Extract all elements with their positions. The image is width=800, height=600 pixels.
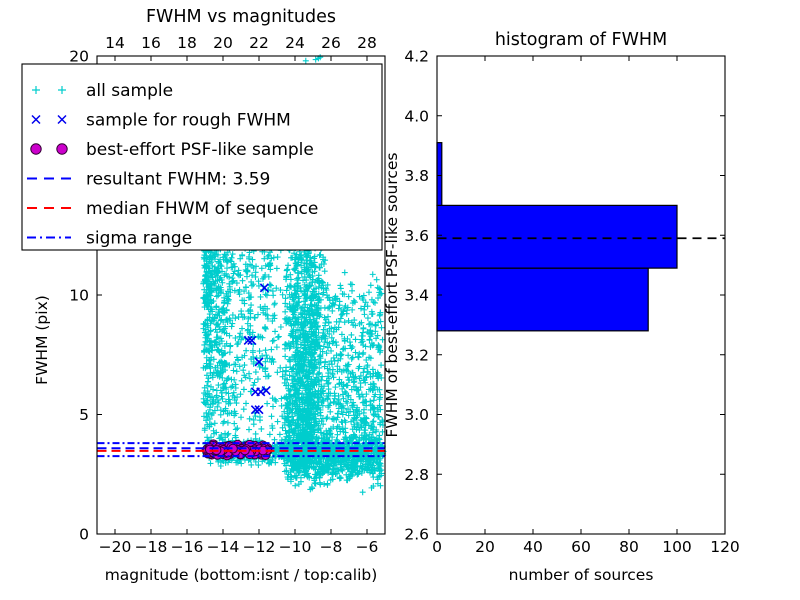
- left-xaxis-label: magnitude (bottom:isnt / top:calib): [105, 566, 378, 584]
- right-yaxis-label: FWHM of best-effort PSF-like sources: [383, 152, 401, 437]
- ytick-label: 3.8: [404, 167, 429, 185]
- ytick-label: 4.0: [404, 107, 429, 125]
- top-xtick-label: 22: [249, 34, 269, 52]
- xtick-label: −6: [356, 538, 379, 556]
- xtick-label: −20: [99, 538, 132, 556]
- top-xtick-label: 20: [213, 34, 233, 52]
- ytick-label: 0: [79, 526, 89, 544]
- legend: all samplesample for rough FWHMbest-effo…: [22, 64, 382, 250]
- ytick-label: 4.2: [404, 48, 429, 66]
- legend-entry-label: sample for rough FWHM: [86, 111, 291, 131]
- histogram-bar: [437, 205, 677, 268]
- legend-circle-icon: [31, 144, 41, 154]
- top-xtick-label: 26: [321, 34, 341, 52]
- top-xtick-label: 16: [141, 34, 161, 52]
- xtick-label: 0: [432, 538, 442, 556]
- right-xaxis-label: number of sources: [509, 566, 654, 584]
- ytick-label: 3.4: [404, 287, 429, 305]
- legend-entry-label: all sample: [86, 81, 173, 101]
- top-xtick-label: 28: [357, 34, 377, 52]
- xtick-label: 80: [619, 538, 639, 556]
- legend-entry-label: sigma range: [86, 229, 192, 249]
- ytick-label: 3.0: [404, 406, 429, 424]
- xtick-label: −14: [207, 538, 240, 556]
- top-xtick-label: 24: [285, 34, 305, 52]
- left-yaxis-label: FWHM (pix): [33, 295, 51, 385]
- figure-canvas: FWHM vs magnitudes −20−18−16−14−12−10−8−…: [0, 0, 800, 600]
- right-histogram-panel: histogram of FWHM 0204060801001202.62.83…: [383, 30, 740, 584]
- legend-entry-label: median FHWM of sequence: [86, 199, 318, 219]
- legend-circle-icon: [57, 144, 67, 154]
- xtick-label: −10: [279, 538, 312, 556]
- matplotlib-figure: FWHM vs magnitudes −20−18−16−14−12−10−8−…: [0, 0, 800, 600]
- ytick-label: 2.8: [404, 466, 429, 484]
- legend-entry-label: best-effort PSF-like sample: [86, 140, 314, 160]
- top-xtick-label: 14: [105, 34, 125, 52]
- ytick-label: 5: [79, 406, 89, 424]
- xtick-label: −12: [243, 538, 276, 556]
- top-xtick-label: 18: [177, 34, 197, 52]
- xtick-label: −16: [171, 538, 204, 556]
- histogram-bar: [437, 143, 442, 206]
- xtick-label: 20: [475, 538, 495, 556]
- ytick-label: 3.6: [404, 227, 429, 245]
- legend-entry-label: resultant FWHM: 3.59: [86, 170, 270, 190]
- histogram-bar: [437, 268, 648, 331]
- xtick-label: 60: [571, 538, 591, 556]
- left-panel-title: FWHM vs magnitudes: [146, 7, 336, 27]
- xtick-label: −8: [320, 538, 343, 556]
- ytick-label: 20: [69, 48, 89, 66]
- xtick-label: 120: [710, 538, 740, 556]
- xtick-label: 100: [662, 538, 692, 556]
- right-panel-title: histogram of FWHM: [495, 30, 667, 50]
- ytick-label: 10: [69, 287, 89, 305]
- ytick-label: 2.6: [404, 526, 429, 544]
- xtick-label: 40: [523, 538, 543, 556]
- xtick-label: −18: [135, 538, 168, 556]
- ytick-label: 3.2: [404, 346, 429, 364]
